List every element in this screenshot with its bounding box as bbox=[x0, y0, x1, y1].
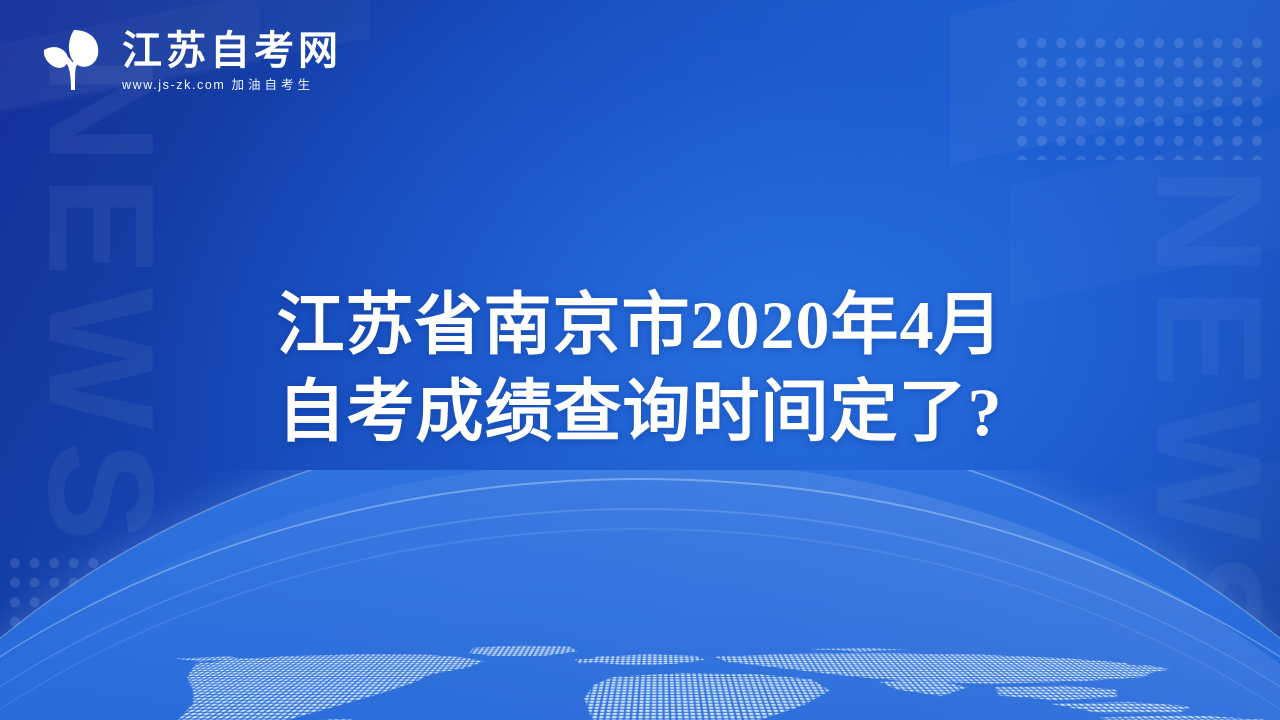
sprout-icon bbox=[34, 24, 108, 98]
site-tagline: www.js-zk.com加油自考生 bbox=[122, 74, 342, 93]
globe-graphic bbox=[0, 470, 1280, 720]
site-url: www.js-zk.com bbox=[122, 78, 225, 92]
dot-grid-top-right bbox=[1017, 38, 1272, 160]
logo-text-block: 江苏自考网 www.js-zk.com加油自考生 bbox=[122, 30, 342, 93]
globe-arc bbox=[0, 478, 1280, 720]
decor-panel bbox=[1010, 115, 1280, 305]
site-logo[interactable]: 江苏自考网 www.js-zk.com加油自考生 bbox=[34, 24, 342, 98]
decor-panel bbox=[940, 429, 1280, 701]
news-banner: NEWS NEWS bbox=[0, 0, 1280, 720]
decor-panel bbox=[950, 0, 1280, 165]
page-title-line-1: 江苏省南京市2020年4月 bbox=[80, 282, 1200, 369]
globe-sphere bbox=[0, 470, 1280, 720]
globe-arc bbox=[0, 508, 1280, 720]
site-slogan: 加油自考生 bbox=[231, 78, 314, 92]
dot-grid-bottom-left bbox=[10, 558, 266, 680]
site-name: 江苏自考网 bbox=[122, 30, 342, 72]
world-map-dots bbox=[0, 635, 1280, 720]
page-title-line-2: 自考成绩查询时间定了? bbox=[80, 369, 1200, 456]
page-title: 江苏省南京市2020年4月 自考成绩查询时间定了? bbox=[0, 282, 1280, 456]
globe-sheen bbox=[0, 470, 1280, 720]
globe-arc bbox=[0, 528, 1280, 720]
